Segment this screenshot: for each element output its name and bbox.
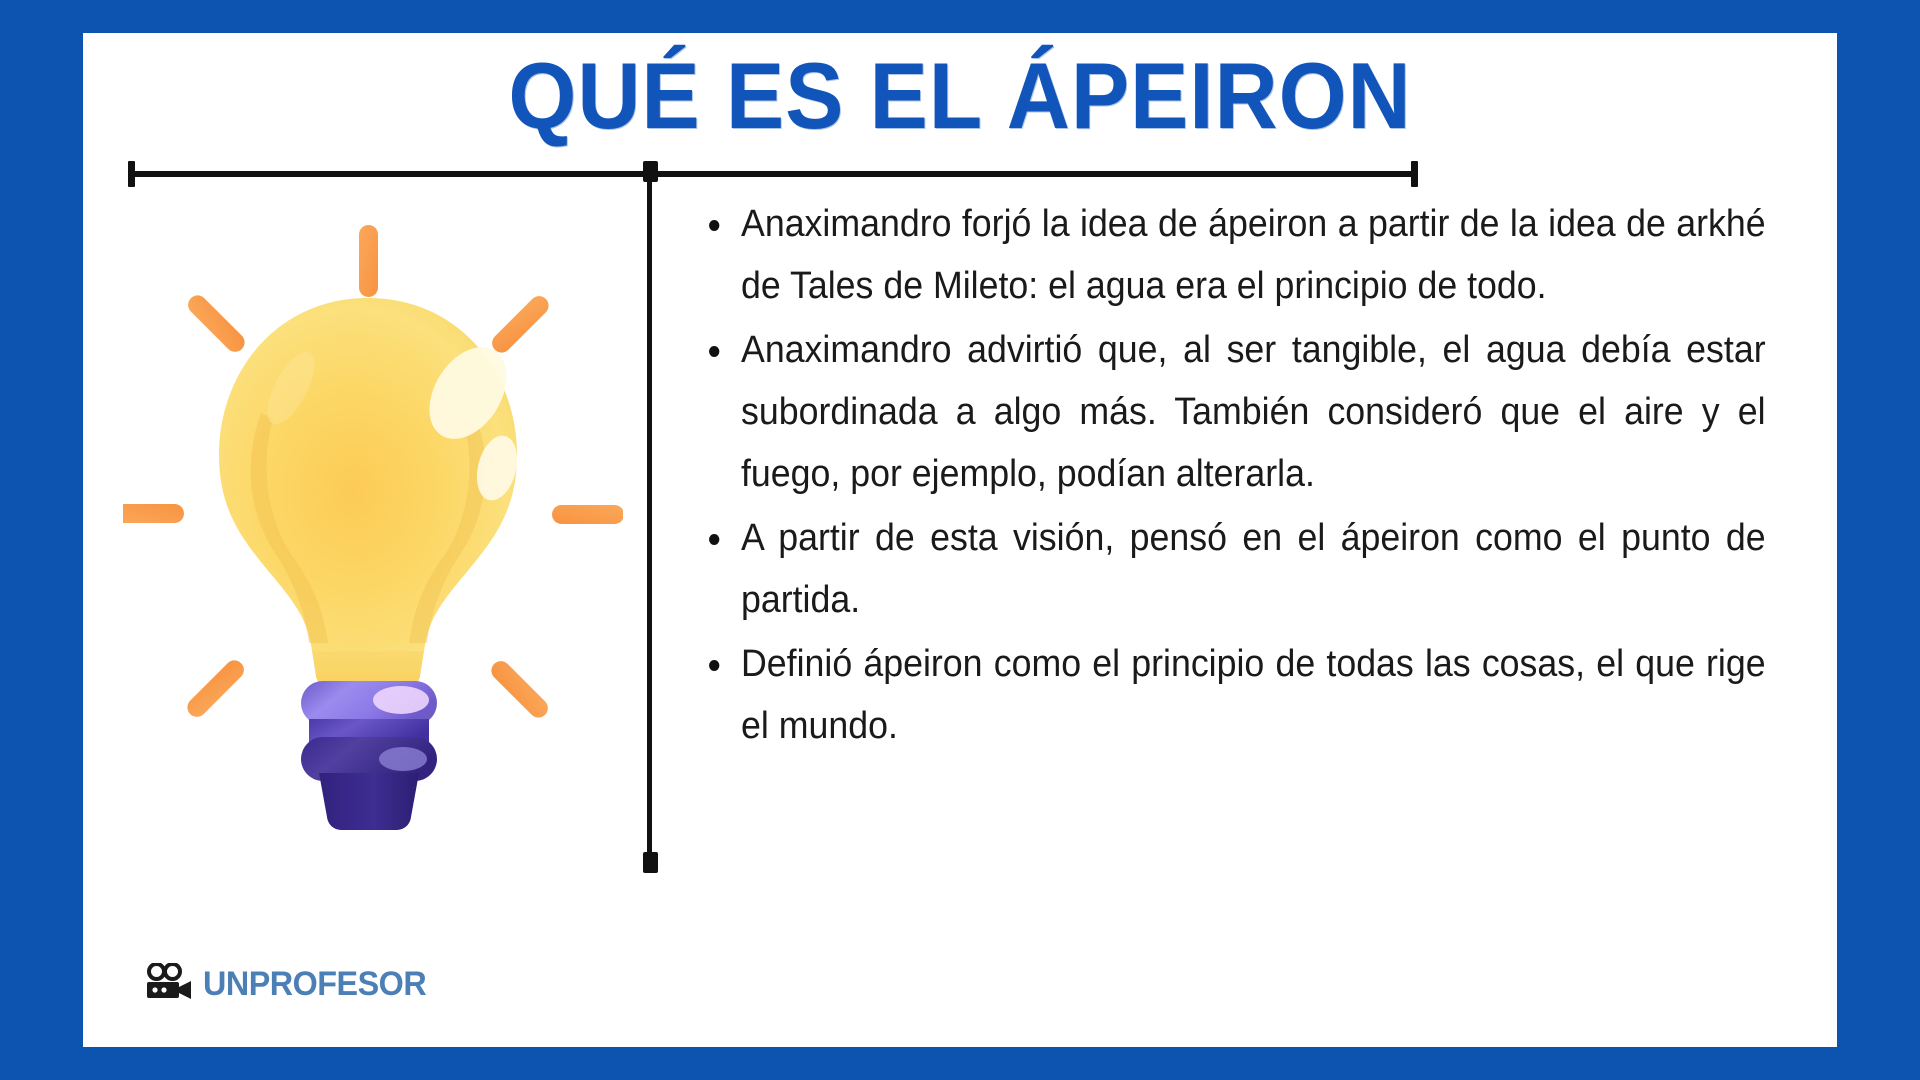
rule-cap-right-icon (1411, 161, 1418, 187)
page-title: QUÉ ES EL ÁPEIRON (144, 38, 1775, 154)
bullet-content: Anaximandro forjó la idea de ápeiron a p… (683, 193, 1793, 759)
bulb-glass (219, 298, 523, 687)
vertical-divider (639, 161, 661, 873)
divider-cap-bottom-icon (643, 852, 658, 873)
bullet-list: Anaximandro forjó la idea de ápeiron a p… (683, 193, 1793, 757)
lightbulb-illustration (123, 213, 623, 833)
logo-text: UNPROFESOR (203, 965, 426, 1004)
list-item: Anaximandro advirtió que, al ser tangibl… (741, 319, 1766, 505)
list-item: Definió ápeiron como el principio de tod… (741, 633, 1766, 757)
slide-root: QUÉ ES EL ÁPEIRON (0, 0, 1920, 1080)
divider-line (647, 171, 652, 863)
video-camera-icon (145, 963, 193, 1006)
unprofesor-logo[interactable]: UNPROFESOR (145, 963, 438, 1006)
white-card: QUÉ ES EL ÁPEIRON (83, 33, 1837, 1047)
title-underline-rule (128, 161, 1418, 187)
bulb-base (301, 681, 437, 830)
list-item: A partir de esta visión, pensó en el ápe… (741, 507, 1766, 631)
rule-line (128, 171, 1418, 177)
list-item: Anaximandro forjó la idea de ápeiron a p… (741, 193, 1766, 317)
